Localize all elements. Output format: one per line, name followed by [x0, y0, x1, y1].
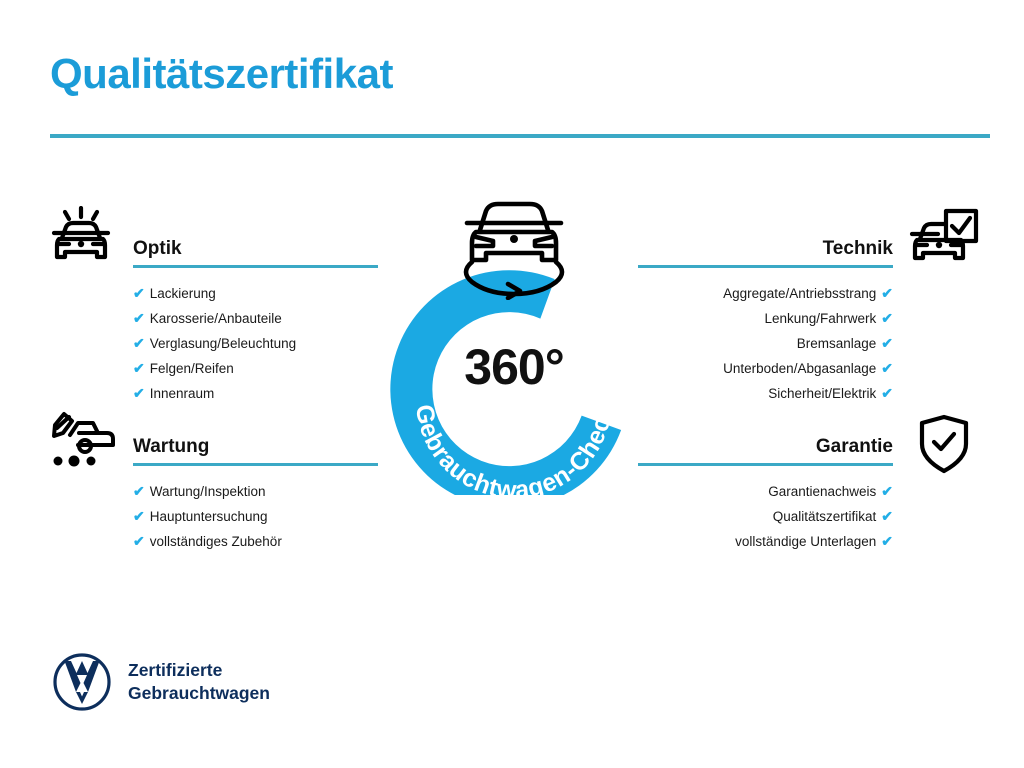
list-item-label: Lackierung: [150, 286, 216, 301]
list-item: Lenkung/Fahrwerk✔: [638, 306, 893, 331]
list-item: ✔vollständiges Zubehör: [133, 529, 378, 554]
shield-check-icon: [918, 414, 970, 479]
list-item-label: Sicherheit/Elektrik: [768, 386, 876, 401]
list-item-label: vollständige Unterlagen: [735, 534, 876, 549]
check-icon: ✔: [133, 335, 145, 351]
checklist-wartung: ✔Wartung/Inspektion ✔Hauptuntersuchung ✔…: [133, 479, 378, 554]
section-optik: Optik ✔Lackierung ✔Karosserie/Anbauteile…: [133, 238, 378, 422]
check-icon: ✔: [881, 508, 893, 524]
list-item: ✔Lackierung: [133, 281, 378, 306]
list-item: Sicherheit/Elektrik✔: [638, 381, 893, 406]
list-item: ✔Karosserie/Anbauteile: [133, 306, 378, 331]
check-icon: ✔: [881, 285, 893, 301]
list-item-label: Wartung/Inspektion: [150, 484, 266, 499]
check-icon: ✔: [881, 385, 893, 401]
check-icon: ✔: [133, 508, 145, 524]
list-item-label: Aggregate/Antriebsstrang: [723, 286, 876, 301]
list-item: Aggregate/Antriebsstrang✔: [638, 281, 893, 306]
list-item-label: Hauptuntersuchung: [150, 509, 268, 524]
brand-text: Zertifizierte Gebrauchtwagen: [128, 659, 270, 705]
check-icon: ✔: [133, 385, 145, 401]
badge-value: 360°: [378, 338, 650, 396]
vw-brand-lockup: Zertifizierte Gebrauchtwagen: [52, 652, 270, 712]
car-front-shine-icon: [48, 206, 114, 277]
list-item-label: Lenkung/Fahrwerk: [764, 311, 876, 326]
check-icon: ✔: [881, 483, 893, 499]
list-item-label: Felgen/Reifen: [150, 361, 234, 376]
list-item-label: Garantienachweis: [768, 484, 876, 499]
title-divider: [50, 134, 990, 138]
check-icon: ✔: [133, 483, 145, 499]
check-icon: ✔: [133, 310, 145, 326]
brand-line-2: Gebrauchtwagen: [128, 682, 270, 705]
list-item-label: vollständiges Zubehör: [150, 534, 282, 549]
checklist-technik: Aggregate/Antriebsstrang✔ Lenkung/Fahrwe…: [638, 281, 893, 406]
list-item-label: Innenraum: [150, 386, 215, 401]
list-item: ✔Innenraum: [133, 381, 378, 406]
section-divider-technik: [638, 265, 893, 268]
list-item-label: Qualitätszertifikat: [773, 509, 877, 524]
list-item: Bremsanlage✔: [638, 331, 893, 356]
list-item: Qualitätszertifikat✔: [638, 504, 893, 529]
list-item: vollständige Unterlagen✔: [638, 529, 893, 554]
list-item: ✔Verglasung/Beleuchtung: [133, 331, 378, 356]
section-technik: Technik Aggregate/Antriebsstrang✔ Lenkun…: [638, 238, 893, 422]
check-icon: ✔: [881, 310, 893, 326]
section-title-optik: Optik: [133, 238, 378, 260]
list-item-label: Karosserie/Anbauteile: [150, 311, 282, 326]
list-item-label: Unterboden/Abgasanlage: [723, 361, 876, 376]
section-title-technik: Technik: [638, 238, 893, 260]
check-icon: ✔: [133, 360, 145, 376]
car-front-rotate-icon: [446, 190, 582, 300]
check-icon: ✔: [133, 533, 145, 549]
car-pencil-service-icon: [48, 409, 118, 476]
section-divider-optik: [133, 265, 378, 268]
car-front-checkbox-icon: [908, 208, 980, 277]
section-title-wartung: Wartung: [133, 436, 378, 458]
section-wartung: Wartung ✔Wartung/Inspektion ✔Hauptunters…: [133, 436, 378, 570]
vw-logo-icon: [52, 652, 112, 712]
section-divider-garantie: [638, 463, 893, 466]
list-item: Unterboden/Abgasanlage✔: [638, 356, 893, 381]
brand-line-1: Zertifizierte: [128, 659, 270, 682]
section-divider-wartung: [133, 463, 378, 466]
list-item-label: Verglasung/Beleuchtung: [150, 336, 296, 351]
page-title: Qualitätszertifikat: [50, 50, 393, 98]
list-item: Garantienachweis✔: [638, 479, 893, 504]
certificate-page: Qualitätszertifikat: [0, 0, 1024, 768]
section-title-garantie: Garantie: [638, 436, 893, 458]
check-icon: ✔: [881, 335, 893, 351]
checklist-optik: ✔Lackierung ✔Karosserie/Anbauteile ✔Verg…: [133, 281, 378, 406]
list-item: ✔Hauptuntersuchung: [133, 504, 378, 529]
list-item: ✔Wartung/Inspektion: [133, 479, 378, 504]
checklist-garantie: Garantienachweis✔ Qualitätszertifikat✔ v…: [638, 479, 893, 554]
list-item: ✔Felgen/Reifen: [133, 356, 378, 381]
360-check-badge: Gebrauchtwagen-Check 360°: [378, 190, 650, 495]
check-icon: ✔: [881, 360, 893, 376]
check-icon: ✔: [133, 285, 145, 301]
check-icon: ✔: [881, 533, 893, 549]
list-item-label: Bremsanlage: [797, 336, 877, 351]
section-garantie: Garantie Garantienachweis✔ Qualitätszert…: [638, 436, 893, 570]
